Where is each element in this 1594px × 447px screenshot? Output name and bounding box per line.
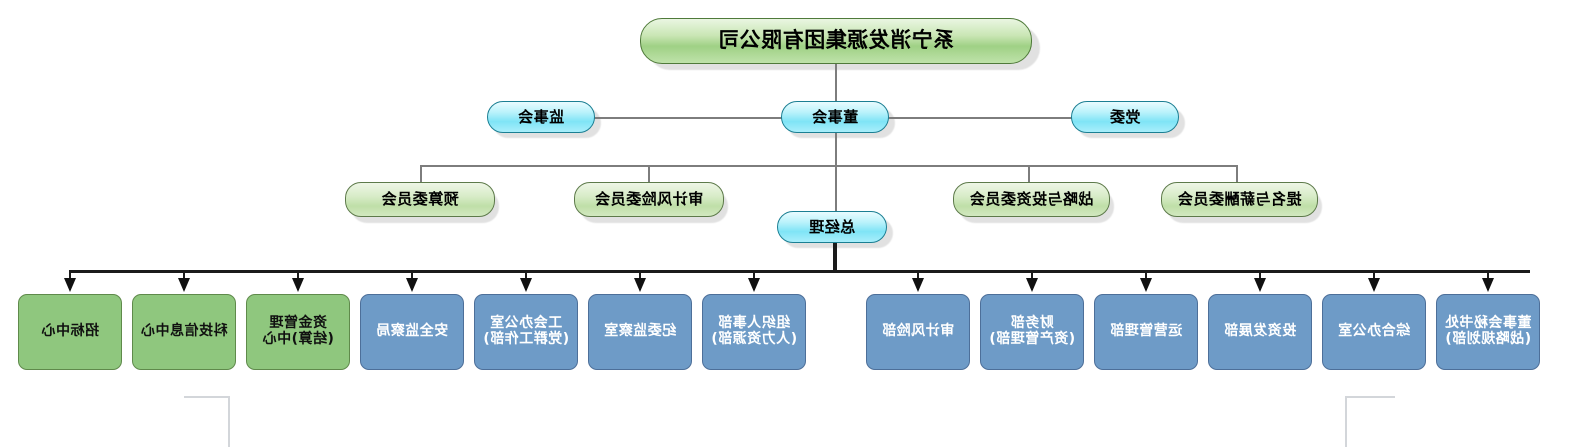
company-title-node: 系宁消发源集团有限公司	[640, 18, 1032, 64]
node-department-finance-label: 财务部 (资产管理部)	[981, 316, 1083, 347]
node-party-committee: 党委	[1071, 101, 1179, 133]
node-supervisory-board-label: 监事会	[488, 109, 594, 126]
node-department-general-office-label: 综合办公室	[1323, 324, 1425, 340]
department-arrow-12	[1368, 278, 1380, 292]
node-general-manager: 总经理	[777, 211, 887, 243]
node-department-fund-management-center: 资金管理 (结算)中心	[246, 294, 350, 370]
node-department-investment-development-label: 投资发展部	[1209, 324, 1311, 340]
node-department-tech-information-center: 科技信息中心	[132, 294, 236, 370]
department-arrow-10	[1140, 278, 1152, 292]
department-arrow-9	[1026, 278, 1038, 292]
node-committee-strategy-investment-label: 战略与投资委员会	[954, 191, 1109, 208]
node-committee-nomination-compensation-label: 提名与薪酬委员会	[1162, 191, 1317, 208]
node-department-bidding-center: 招标中心	[18, 294, 122, 370]
node-department-safety-supervision-bureau: 安全监察局	[360, 294, 464, 370]
department-arrow-3	[292, 278, 304, 292]
node-department-audit-risk-label: 审计风险部	[867, 324, 969, 340]
node-board-of-directors-label: 董事会	[782, 109, 888, 126]
node-department-discipline-inspection-office-label: 纪委监察室	[589, 324, 691, 340]
node-committee-audit-risk: 审计风险委员会	[574, 182, 724, 217]
node-department-finance: 财务部 (资产管理部)	[980, 294, 1084, 370]
node-general-manager-label: 总经理	[778, 219, 886, 236]
node-department-operations-management-label: 运营管理部	[1095, 324, 1197, 340]
node-supervisory-board: 监事会	[487, 101, 595, 133]
node-department-audit-risk: 审计风险部	[866, 294, 970, 370]
node-department-labor-union-office: 工会办公室 (党群工作部)	[474, 294, 578, 370]
node-department-fund-management-center-label: 资金管理 (结算)中心	[247, 316, 349, 347]
node-department-board-secretariat-label: 董事会秘书处 (战略规划部)	[1437, 316, 1539, 347]
company-title-label: 系宁消发源集团有限公司	[641, 29, 1031, 53]
bottom-connector-left-vertical	[228, 396, 230, 447]
node-party-committee-label: 党委	[1072, 109, 1178, 126]
bottom-connector-left-horizontal	[184, 396, 230, 398]
bottom-connector-right-horizontal	[1345, 396, 1395, 398]
connector-title-to-board	[835, 64, 837, 104]
node-committee-nomination-compensation: 提名与薪酬委员会	[1161, 182, 1318, 217]
node-department-labor-union-office-label: 工会办公室 (党群工作部)	[475, 316, 577, 347]
node-committee-strategy-investment: 战略与投资委员会	[953, 182, 1110, 217]
connector-board-to-committee-bus	[835, 133, 837, 166]
department-arrow-11	[1254, 278, 1266, 292]
node-department-board-secretariat: 董事会秘书处 (战略规划部)	[1436, 294, 1540, 370]
node-department-safety-supervision-bureau-label: 安全监察局	[361, 324, 463, 340]
node-board-of-directors: 董事会	[781, 101, 889, 133]
node-department-general-office: 综合办公室	[1322, 294, 1426, 370]
node-department-bidding-center-label: 招标中心	[19, 324, 121, 340]
department-bus-horizontal	[70, 270, 1530, 273]
node-department-tech-information-center-label: 科技信息中心	[133, 324, 235, 340]
connector-bus-to-manager	[835, 167, 837, 211]
department-arrow-7	[748, 278, 760, 292]
node-department-organization-personnel-label: 组织人事部 (人力资源部)	[703, 316, 805, 347]
department-arrow-4	[406, 278, 418, 292]
node-department-discipline-inspection-office: 纪委监察室	[588, 294, 692, 370]
node-department-investment-development: 投资发展部	[1208, 294, 1312, 370]
department-arrow-6	[634, 278, 646, 292]
connector-manager-to-department-bus	[833, 243, 837, 272]
node-department-organization-personnel: 组织人事部 (人力资源部)	[702, 294, 806, 370]
department-arrow-13	[1482, 278, 1494, 292]
department-arrow-1	[64, 278, 76, 292]
committee-bus-horizontal	[420, 165, 1238, 167]
bottom-connector-right-vertical	[1345, 396, 1347, 447]
department-arrow-5	[520, 278, 532, 292]
department-arrow-2	[178, 278, 190, 292]
department-arrow-8	[912, 278, 924, 292]
node-committee-audit-risk-label: 审计风险委员会	[575, 191, 723, 208]
node-committee-budget-label: 预算委员会	[346, 191, 494, 208]
node-department-operations-management: 运营管理部	[1094, 294, 1198, 370]
org-chart-canvas: 系宁消发源集团有限公司 监事会 董事会 党委 预算委员会 审计风险委员会 战略与…	[0, 0, 1594, 447]
node-committee-budget: 预算委员会	[345, 182, 495, 217]
